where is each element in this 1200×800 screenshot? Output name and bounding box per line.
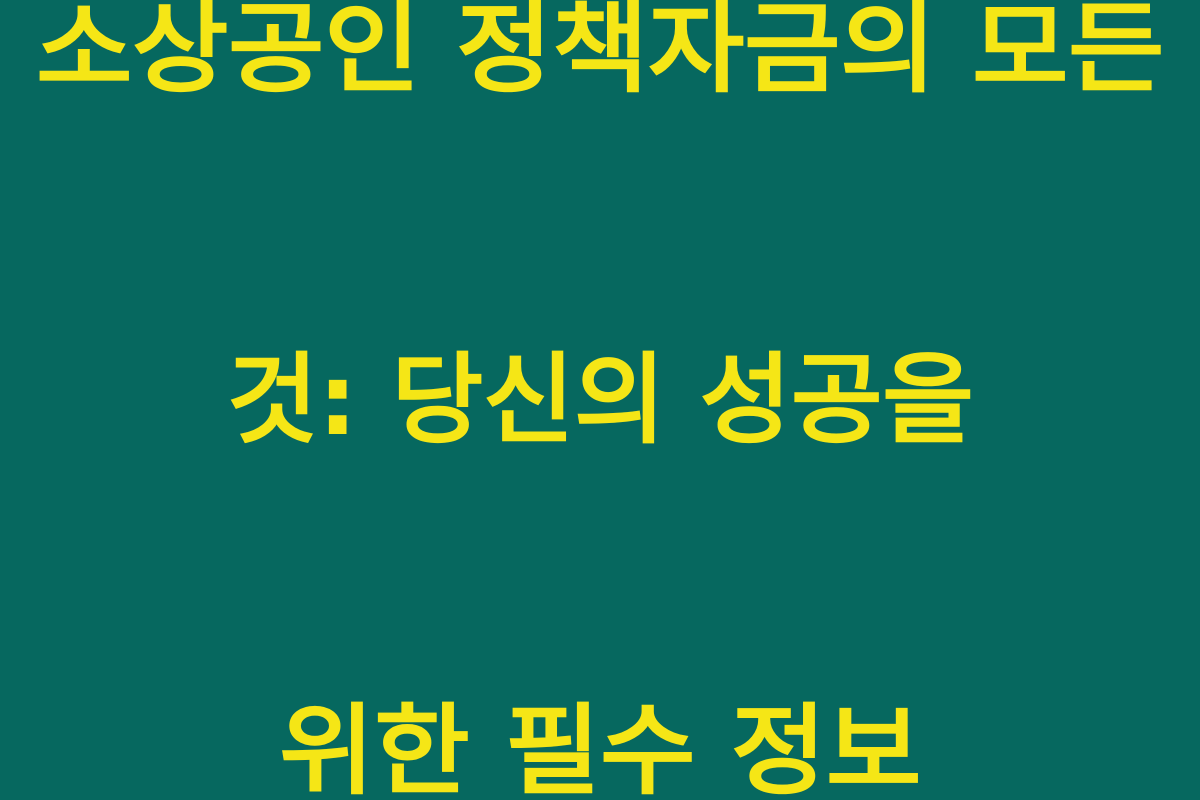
headline-line-2: 것: 당신의 성공을 xyxy=(5,342,1194,459)
headline: 소상공인 정책자금의 모든 것: 당신의 성공을 위한 필수 정보 xyxy=(10,0,1190,800)
headline-line-3: 위한 필수 정보 xyxy=(0,693,1200,800)
headline-line-1: 소상공인 정책자금의 모든 xyxy=(0,0,1200,108)
thumbnail-canvas: 소상공인 정책자금의 모든 것: 당신의 성공을 위한 필수 정보 xyxy=(0,0,1200,800)
